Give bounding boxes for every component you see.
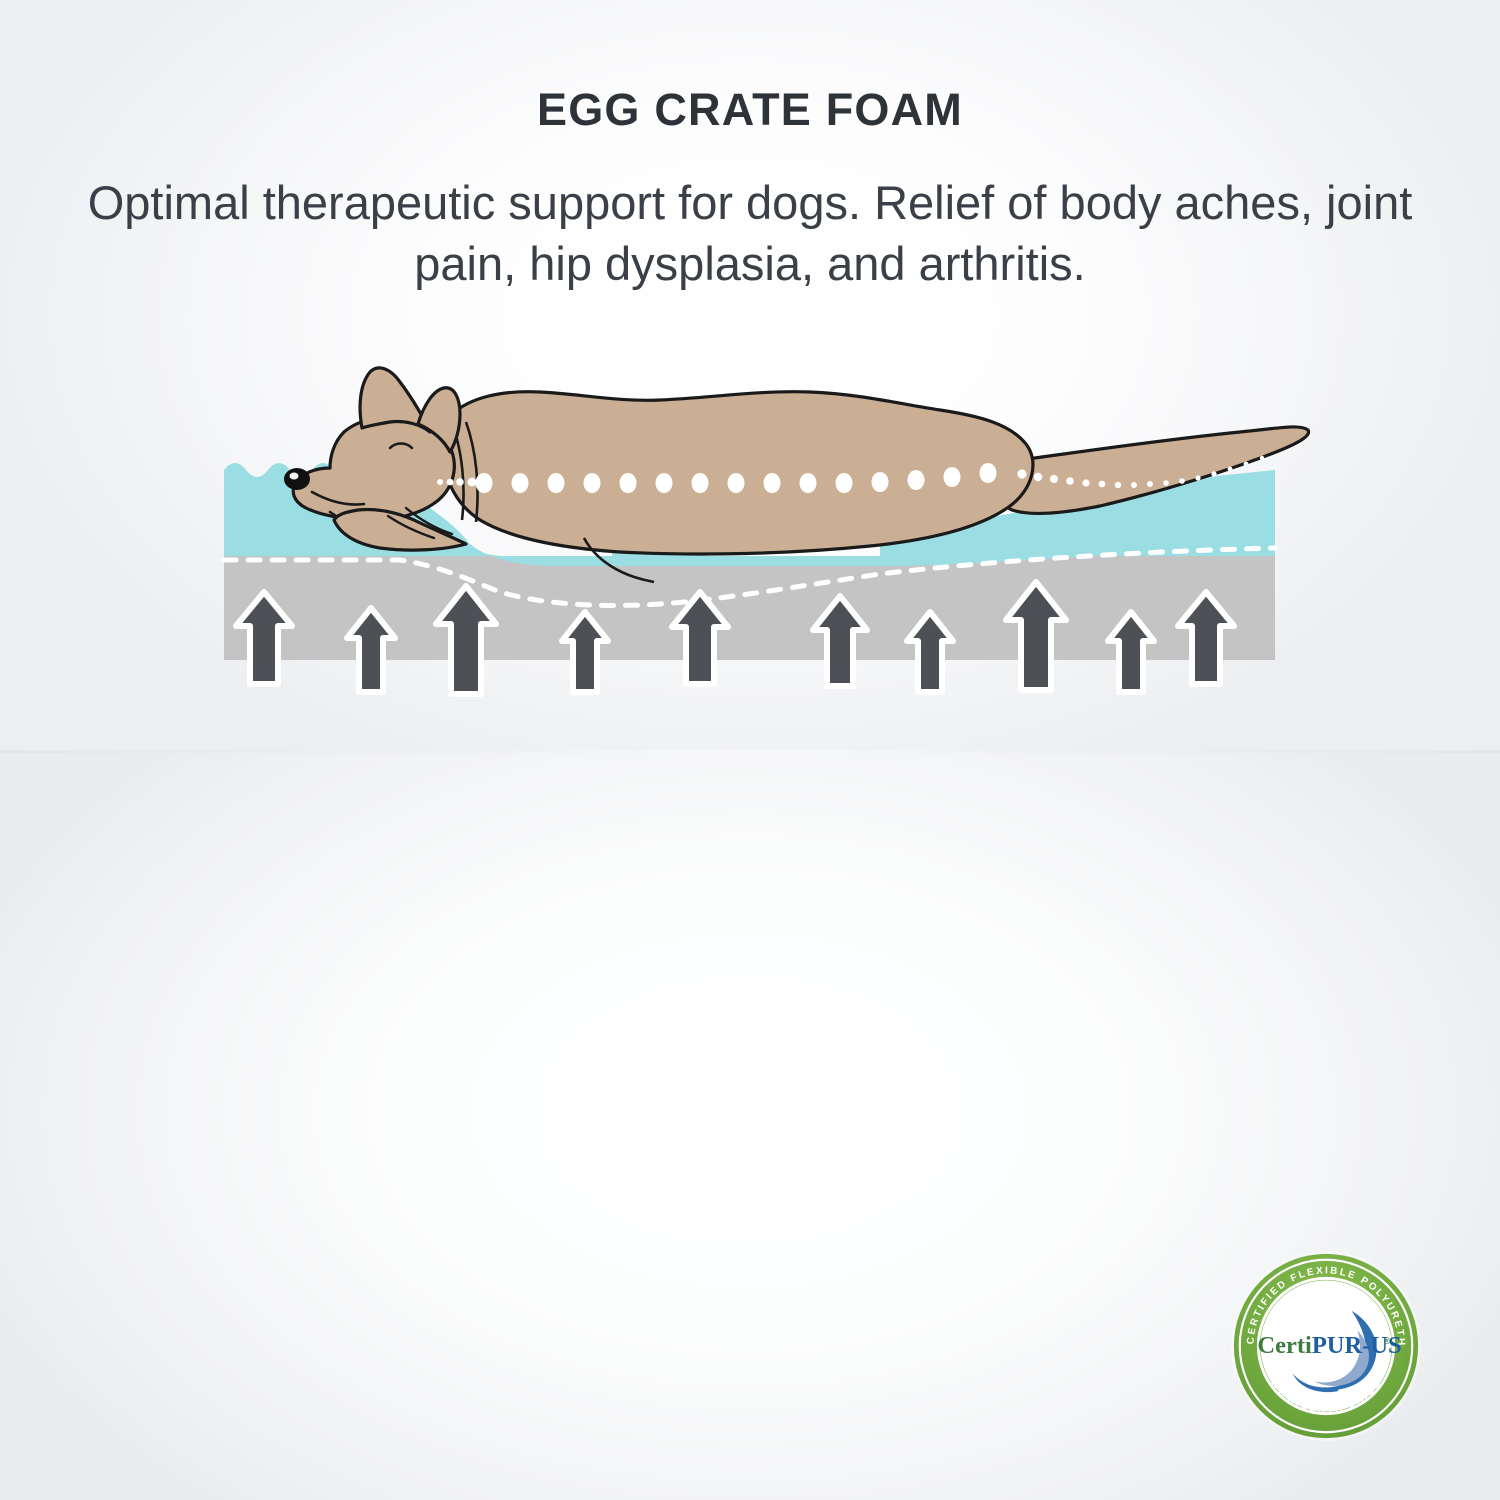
badge-registered-mark: ® xyxy=(1384,1336,1391,1346)
subtitle-therapeutic-support: Optimal therapeutic support for dogs. Re… xyxy=(50,172,1450,294)
panel-divider xyxy=(0,750,1500,753)
page-title-egg-crate-foam: EGG CRATE FOAM xyxy=(0,84,1500,136)
panel-egg-crate-foam: EGG CRATE FOAM Optimal therapeutic suppo… xyxy=(0,0,1500,752)
certipur-badge-svg: CONTAINS CERTIFIED FLEXIBLE POLYURETHANE… xyxy=(1228,1248,1424,1444)
badge-certi-text: CertiPUR-US xyxy=(1257,1332,1401,1359)
panel-increased-airflow: INCREASED AIRFLOW C xyxy=(0,752,1500,1500)
infographic-page: EGG CRATE FOAM Optimal therapeutic suppo… xyxy=(0,0,1500,1500)
badge-center-wordmark: CertiPUR-US ® xyxy=(1257,1332,1401,1359)
certipur-us-badge: CONTAINS CERTIFIED FLEXIBLE POLYURETHANE… xyxy=(1228,1248,1424,1444)
dog-nose xyxy=(284,468,310,490)
